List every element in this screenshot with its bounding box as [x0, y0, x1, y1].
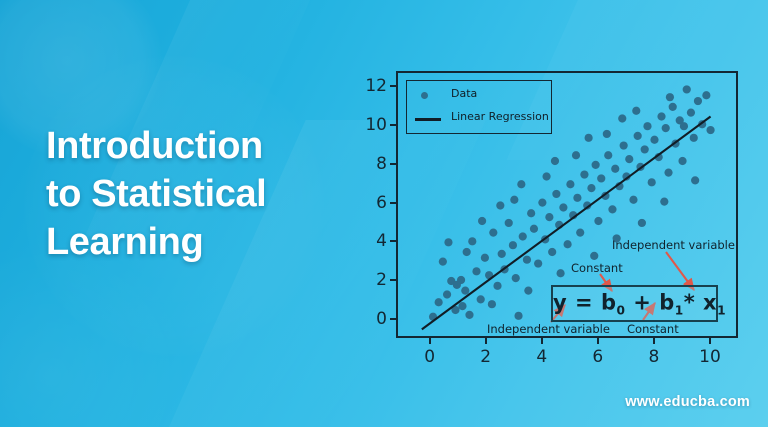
y-axis-tick-mark [390, 202, 396, 204]
data-point [638, 219, 646, 227]
page-title: Introduction to Statistical Learning [46, 123, 366, 267]
x-axis-tick-label: 0 [424, 347, 435, 367]
x-axis-tick-label: 2 [480, 347, 491, 367]
data-point [660, 198, 668, 206]
data-point [643, 122, 651, 130]
banner-root: Introduction to Statistical Learning 024… [0, 0, 768, 427]
data-point [551, 157, 559, 165]
data-point [678, 157, 686, 165]
x-axis-tick-mark [597, 338, 599, 344]
data-point [559, 203, 567, 211]
equation-text: y = b0 + b1* x1 [553, 290, 716, 317]
data-point [478, 217, 486, 225]
x-axis-tick-mark [485, 338, 487, 344]
data-point [572, 151, 580, 159]
legend-marker-dot-icon [421, 92, 428, 99]
equation-times: * [684, 290, 695, 314]
data-point [611, 165, 619, 173]
data-point [632, 107, 640, 115]
data-point [461, 287, 469, 295]
y-axis-tick-label: 12 [365, 76, 387, 96]
data-point [597, 174, 605, 182]
x-axis-tick-mark [709, 338, 711, 344]
data-point [620, 141, 628, 149]
data-point [576, 229, 584, 237]
page-title-line-2: to Statistical [46, 171, 366, 219]
data-point [453, 281, 461, 289]
y-axis-tick-label: 6 [376, 193, 387, 213]
data-point [669, 103, 677, 111]
data-point [523, 256, 531, 264]
y-axis-tick-mark [390, 124, 396, 126]
data-point [694, 97, 702, 105]
data-point [443, 290, 451, 298]
data-point [662, 124, 670, 132]
x-axis-tick-mark [429, 338, 431, 344]
data-point [465, 311, 473, 319]
data-point [524, 287, 532, 295]
data-point [505, 219, 513, 227]
footer-website-url: www.educba.com [625, 394, 750, 410]
data-point [634, 132, 642, 140]
y-axis-tick-mark [390, 279, 396, 281]
equation-lhs: y [553, 290, 567, 314]
page-title-line-1: Introduction [46, 123, 366, 171]
data-point [545, 213, 553, 221]
data-point [604, 151, 612, 159]
chart-legend: Data Linear Regression [406, 80, 552, 134]
equation-plus: + [633, 290, 651, 314]
equation-slope-sub: 1 [675, 303, 684, 317]
data-point [548, 248, 556, 256]
annotation-constant-bottom: Constant [627, 322, 679, 336]
annotation-constant-top: Constant [571, 261, 623, 275]
data-point [585, 134, 593, 142]
y-axis-tick-label: 2 [376, 270, 387, 290]
data-point [556, 269, 564, 277]
data-point [683, 85, 691, 93]
y-axis-tick-mark [390, 163, 396, 165]
data-point [564, 240, 572, 248]
x-axis-tick-mark [541, 338, 543, 344]
data-point [514, 312, 522, 320]
data-point [534, 259, 542, 267]
equation-variable-sub: 1 [717, 303, 726, 317]
data-point [648, 178, 656, 186]
data-point [618, 114, 626, 122]
data-point [463, 248, 471, 256]
y-axis-tick-mark [390, 240, 396, 242]
equation-box: y = b0 + b1* x1 [551, 285, 718, 322]
annotation-independent-variable-top: Independent variable [612, 238, 735, 252]
data-point [477, 295, 485, 303]
data-point [573, 194, 581, 202]
data-point [657, 112, 665, 120]
x-axis-tick-label: 4 [536, 347, 547, 367]
legend-item-regression: Linear Regression [407, 108, 551, 130]
equation-variable: x [703, 290, 717, 314]
data-point [489, 229, 497, 237]
y-axis-tick-mark [390, 85, 396, 87]
data-point [512, 274, 520, 282]
data-point [542, 172, 550, 180]
data-point [690, 134, 698, 142]
legend-label-regression: Linear Regression [451, 110, 549, 123]
data-point [496, 201, 504, 209]
y-axis-tick-label: 8 [376, 154, 387, 174]
data-point [435, 298, 443, 306]
data-point [702, 91, 710, 99]
data-point [498, 250, 506, 258]
equation-slope: b [659, 290, 675, 314]
data-point [590, 252, 598, 260]
data-point [488, 300, 496, 308]
data-point [629, 196, 637, 204]
data-point [439, 258, 447, 266]
data-point [641, 145, 649, 153]
y-axis-tick-label: 4 [376, 231, 387, 251]
page-title-line-3: Learning [46, 219, 366, 267]
data-point [664, 169, 672, 177]
equation-intercept-sub: 0 [616, 303, 625, 317]
legend-item-data: Data [407, 85, 551, 107]
data-point [691, 176, 699, 184]
data-point [592, 161, 600, 169]
data-point [538, 199, 546, 207]
data-point [603, 130, 611, 138]
data-point [444, 238, 452, 246]
data-point [472, 267, 480, 275]
data-point [566, 180, 574, 188]
x-axis-tick-label: 6 [592, 347, 603, 367]
data-point [552, 190, 560, 198]
legend-marker-line-icon [415, 118, 441, 121]
equation-equals: = [575, 290, 593, 314]
x-axis-tick-mark [653, 338, 655, 344]
data-point [587, 184, 595, 192]
y-axis-tick-label: 0 [376, 309, 387, 329]
data-point [650, 136, 658, 144]
data-point [527, 209, 535, 217]
data-point [493, 282, 501, 290]
data-point [481, 254, 489, 262]
x-axis-tick-label: 8 [648, 347, 659, 367]
legend-label-data: Data [451, 87, 477, 100]
x-axis-tick-label: 10 [699, 347, 721, 367]
data-point [594, 217, 602, 225]
data-point [608, 205, 616, 213]
annotation-independent-variable-bottom: Independent variable [487, 322, 610, 336]
data-point [468, 237, 476, 245]
data-point [458, 302, 466, 310]
data-point [706, 126, 714, 134]
data-point [666, 93, 674, 101]
data-point [517, 180, 525, 188]
data-point [687, 109, 695, 117]
y-axis-tick-label: 10 [365, 115, 387, 135]
data-point [510, 196, 518, 204]
data-point [530, 225, 538, 233]
y-axis-tick-mark [390, 318, 396, 320]
data-point [580, 170, 588, 178]
data-point [509, 241, 517, 249]
equation-intercept: b [601, 290, 617, 314]
data-point [680, 122, 688, 130]
data-point [625, 155, 633, 163]
data-point [519, 232, 527, 240]
